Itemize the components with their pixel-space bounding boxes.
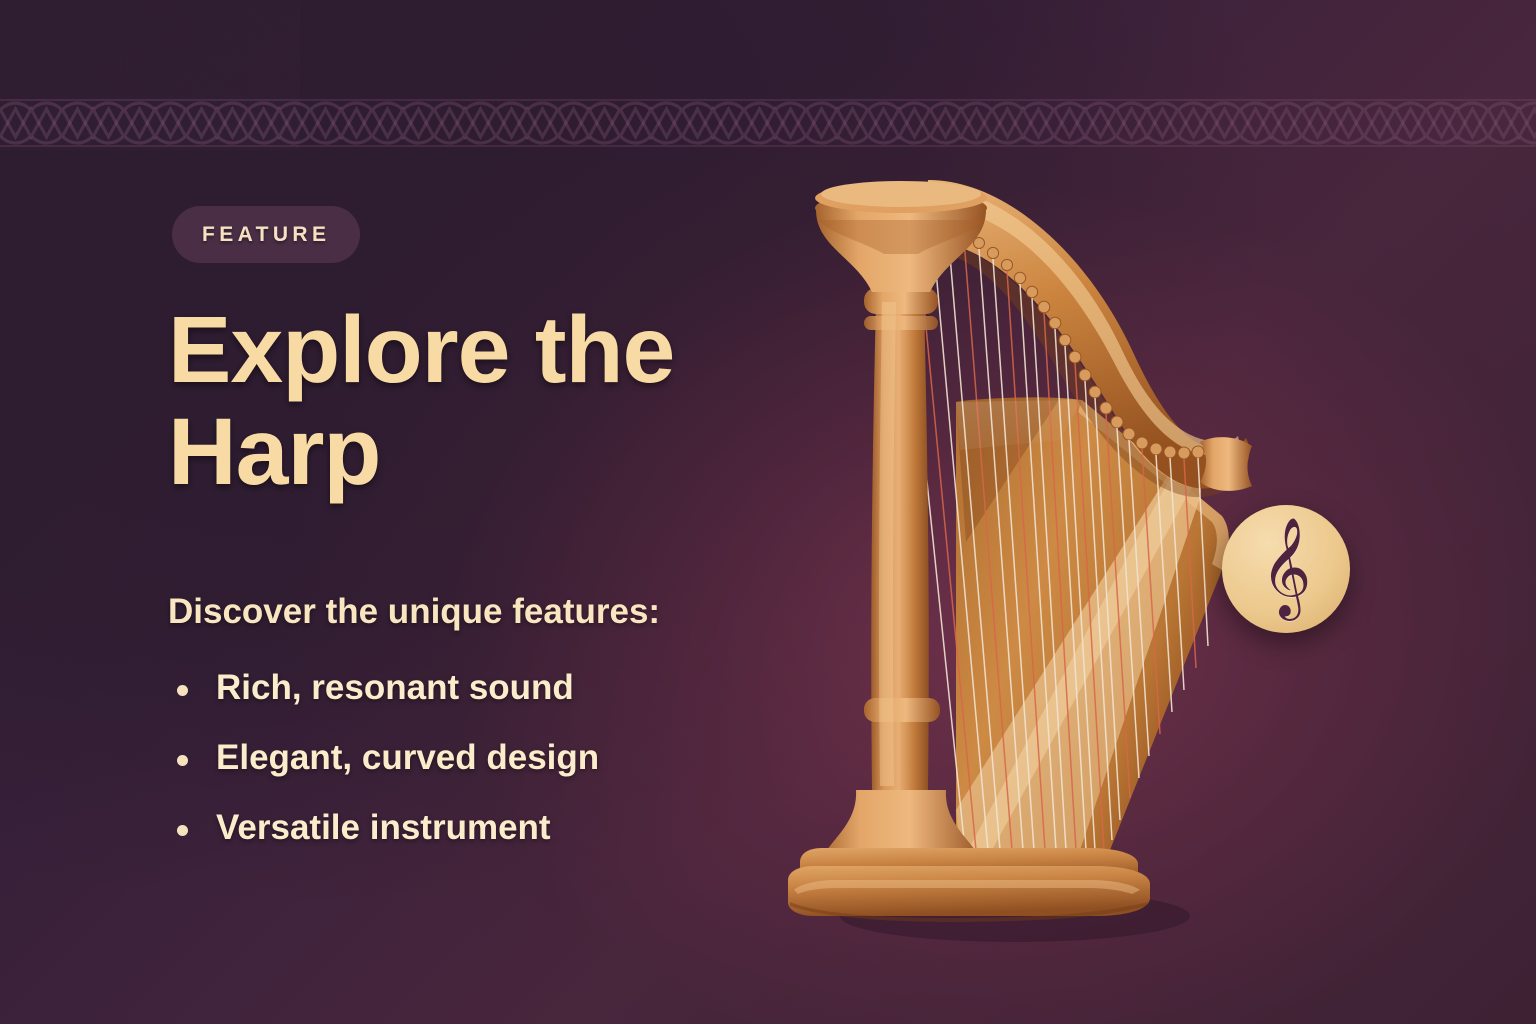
border-rule-bottom (0, 145, 1536, 147)
list-item: Versatile instrument (172, 808, 599, 848)
page-title-line-1: Explore the (168, 300, 808, 402)
harp-base (788, 848, 1150, 922)
feature-badge-label: FEATURE (202, 223, 330, 247)
slide-canvas: FEATURE Explore the Harp Discover the un… (0, 0, 1536, 1024)
celtic-lattice-border (0, 99, 1536, 147)
border-rule-top (0, 99, 1536, 101)
list-item-label: Rich, resonant sound (216, 668, 574, 707)
feature-badge: FEATURE (172, 206, 360, 263)
page-title: Explore the Harp (168, 300, 808, 503)
neck-collar (1200, 437, 1252, 491)
celtic-lattice-pattern (0, 99, 1536, 147)
page-title-line-2: Harp (168, 402, 808, 504)
harp-illustration (760, 150, 1280, 950)
list-item: Elegant, curved design (172, 738, 599, 778)
list-item-label: Versatile instrument (216, 808, 551, 847)
bullet-dot-icon (177, 825, 188, 836)
bullet-dot-icon (177, 685, 188, 696)
treble-clef-medallion: 𝄞 (1222, 505, 1350, 633)
bullet-dot-icon (177, 755, 188, 766)
list-item: Rich, resonant sound (172, 668, 599, 708)
list-item-label: Elegant, curved design (216, 738, 599, 777)
subheading: Discover the unique features: (168, 592, 660, 632)
treble-clef-icon: 𝄞 (1261, 524, 1312, 610)
feature-list: Rich, resonant sound Elegant, curved des… (172, 668, 599, 878)
